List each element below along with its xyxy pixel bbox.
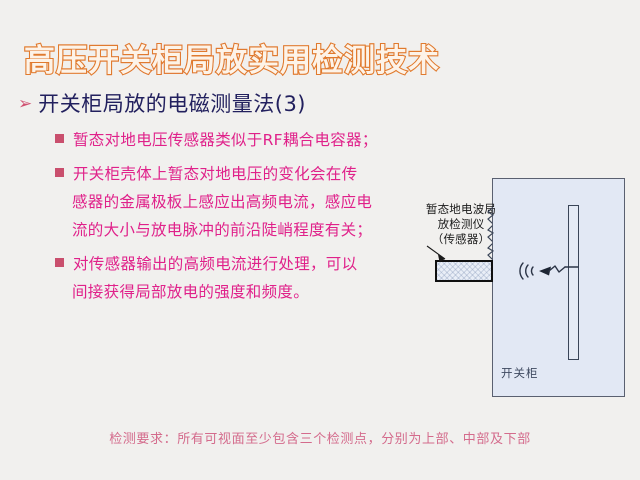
title-block: 高压开关柜局放实用检测技术 高压开关柜局放实用检测技术 [24, 38, 424, 84]
list-item-line: 对传感器输出的高频电流进行处理，可以 [73, 255, 357, 273]
list-item: 开关柜壳体上暂态对地电压的变化会在传 感器的金属极板上感应出高频电流，感应电 流… [55, 160, 415, 244]
list-item-line: 流的大小与放电脉冲的前沿陡峭程度有关； [72, 216, 372, 244]
list-item-text: 开关柜壳体上暂态对地电压的变化会在传 感器的金属极板上感应出高频电流，感应电 流… [73, 160, 372, 244]
square-bullet-icon [55, 134, 64, 143]
partial-discharge-arrow-icon [539, 266, 578, 276]
square-bullet-icon [55, 168, 64, 177]
diagram-overlay [415, 160, 640, 410]
bullet-list: 暂态对地电压传感器类似于RF耦合电容器； 开关柜壳体上暂态对地电压的变化会在传 … [55, 126, 415, 312]
list-item: 对传感器输出的高频电流进行处理，可以 间接获得局部放电的强度和频度。 [55, 250, 415, 306]
radio-wave-icon [520, 263, 533, 279]
footer-note: 检测要求：所有可视面至少包含三个检测点，分别为上部、中部及下部 [0, 428, 640, 447]
section-heading: ➢ 开关柜局放的电磁测量法(3) [18, 88, 306, 118]
square-bullet-icon [55, 258, 64, 267]
list-item-line: 感器的金属极板上感应出高频电流，感应电 [72, 188, 372, 216]
page-title: 高压开关柜局放实用检测技术 [24, 38, 424, 84]
list-item-line: 开关柜壳体上暂态对地电压的变化会在传 [73, 165, 357, 183]
section-heading-label: 开关柜局放的电磁测量法(3) [38, 88, 306, 118]
list-item-text: 暂态对地电压传感器类似于RF耦合电容器； [73, 126, 378, 154]
list-item: 暂态对地电压传感器类似于RF耦合电容器； [55, 126, 415, 154]
arrow-bullet-icon: ➢ [18, 96, 32, 113]
surface-current-zigzag-icon [488, 208, 493, 259]
list-item-line: 暂态对地电压传感器类似于RF耦合电容器； [73, 131, 378, 149]
list-item-line: 间接获得局部放电的强度和频度。 [72, 278, 357, 306]
slide-canvas: 高压开关柜局放实用检测技术 高压开关柜局放实用检测技术 ➢ 开关柜局放的电磁测量… [0, 0, 640, 480]
switchgear-diagram: 开关柜 暂态地电波局 放检测仪 （传感器） [415, 160, 640, 410]
list-item-text: 对传感器输出的高频电流进行处理，可以 间接获得局部放电的强度和频度。 [73, 250, 357, 306]
leader-arrow-icon [427, 246, 445, 262]
